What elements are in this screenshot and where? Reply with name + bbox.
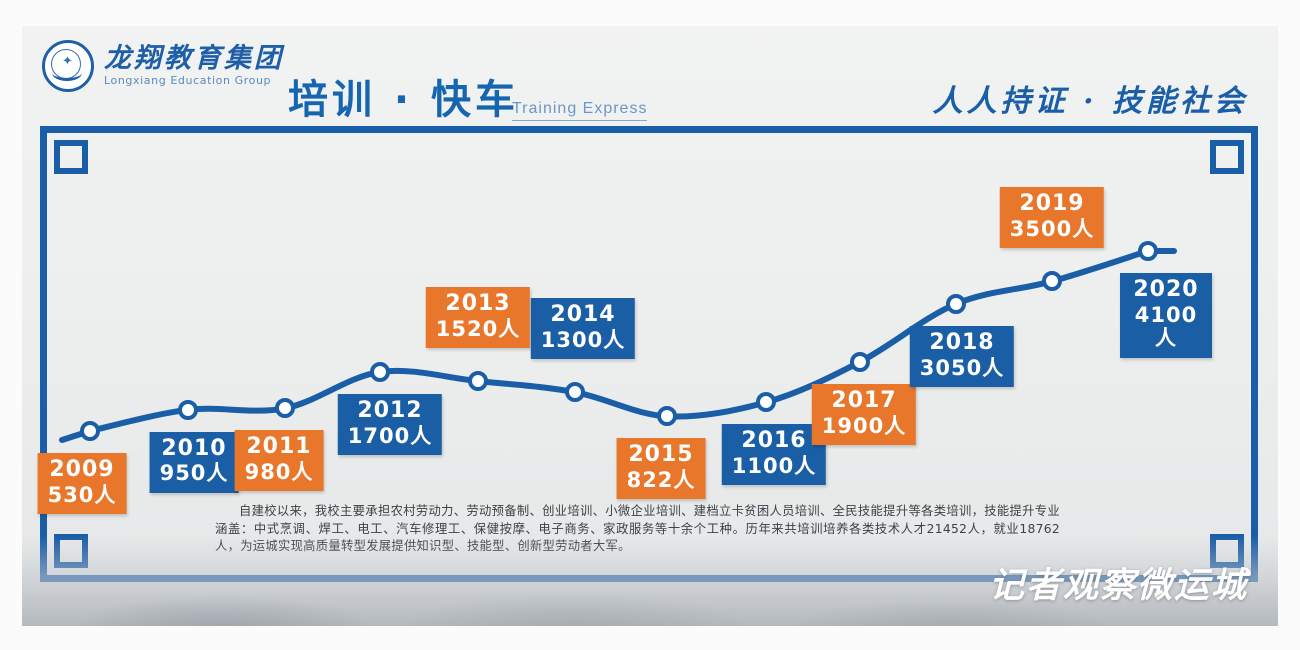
page-title: 培训 · 快车 — [288, 78, 519, 122]
brand-name-en: Longxiang Education Group — [104, 74, 284, 88]
data-point-2014 — [565, 382, 585, 402]
data-label-2017: 20171900人 — [812, 384, 916, 445]
data-label-2016: 20161100人 — [722, 424, 826, 485]
page-subtitle-en: Training Express — [512, 100, 647, 121]
label-value: 1700人 — [348, 425, 432, 449]
label-year: 2014 — [541, 303, 625, 328]
watermark-text: 记者观察微运城 — [989, 557, 1248, 608]
edge-top — [0, 0, 1300, 26]
data-point-2017 — [850, 352, 870, 372]
label-year: 2013 — [436, 292, 520, 317]
data-label-2013: 20131520人 — [426, 287, 530, 348]
label-year: 2012 — [348, 399, 432, 424]
data-point-2018 — [946, 294, 966, 314]
label-value: 980人 — [245, 461, 314, 485]
data-point-2009 — [80, 421, 100, 441]
data-label-2012: 20121700人 — [338, 394, 442, 455]
label-year: 2011 — [245, 435, 314, 460]
logo-emblem-icon: ✦ — [42, 40, 94, 92]
label-year: 2018 — [920, 331, 1004, 356]
data-point-2016 — [756, 392, 776, 412]
label-value: 4100人 — [1130, 304, 1202, 351]
brand-text: 龙翔教育集团 Longxiang Education Group — [104, 44, 284, 88]
infographic-poster: ✦ 龙翔教育集团 Longxiang Education Group 培训 · … — [0, 0, 1300, 650]
label-year: 2015 — [627, 443, 696, 468]
data-label-2018: 20183050人 — [910, 326, 1014, 387]
data-label-2014: 20141300人 — [531, 298, 635, 359]
label-value: 1100人 — [732, 455, 816, 479]
label-year: 2016 — [732, 429, 816, 454]
trend-line-chart: 2009530人2010950人2011980人20121700人2013152… — [40, 126, 1258, 526]
data-label-2010: 2010950人 — [150, 432, 239, 493]
label-value: 950人 — [160, 462, 229, 486]
label-value: 1900人 — [822, 415, 906, 439]
brand-logo: ✦ 龙翔教育集团 Longxiang Education Group — [42, 40, 284, 92]
label-value: 3050人 — [920, 357, 1004, 381]
label-value: 1300人 — [541, 329, 625, 353]
data-label-2020: 20204100人 — [1120, 273, 1212, 358]
label-year: 2020 — [1130, 278, 1202, 303]
label-year: 2017 — [822, 389, 906, 414]
label-year: 2010 — [160, 437, 229, 462]
data-label-2015: 2015822人 — [617, 438, 706, 499]
header-slogan: 人人持证 · 技能社会 — [933, 84, 1248, 120]
data-label-2009: 2009530人 — [38, 453, 127, 514]
label-value: 822人 — [627, 469, 696, 493]
data-point-2015 — [657, 406, 677, 426]
label-year: 2009 — [48, 458, 117, 483]
swoosh-icon — [52, 65, 82, 81]
data-point-2012 — [370, 362, 390, 382]
edge-bottom — [0, 626, 1300, 650]
label-value: 530人 — [48, 484, 117, 508]
label-value: 3500人 — [1010, 218, 1094, 242]
data-point-2019 — [1042, 271, 1062, 291]
data-point-2020 — [1138, 241, 1158, 261]
data-point-2011 — [275, 398, 295, 418]
data-label-2011: 2011980人 — [235, 430, 324, 491]
brand-name-cn: 龙翔教育集团 — [104, 44, 284, 74]
data-point-2013 — [468, 371, 488, 391]
label-value: 1520人 — [436, 318, 520, 342]
data-point-2010 — [178, 400, 198, 420]
poster-header: ✦ 龙翔教育集团 Longxiang Education Group 培训 · … — [0, 26, 1300, 118]
label-year: 2019 — [1010, 192, 1094, 217]
data-label-2019: 20193500人 — [1000, 187, 1104, 248]
